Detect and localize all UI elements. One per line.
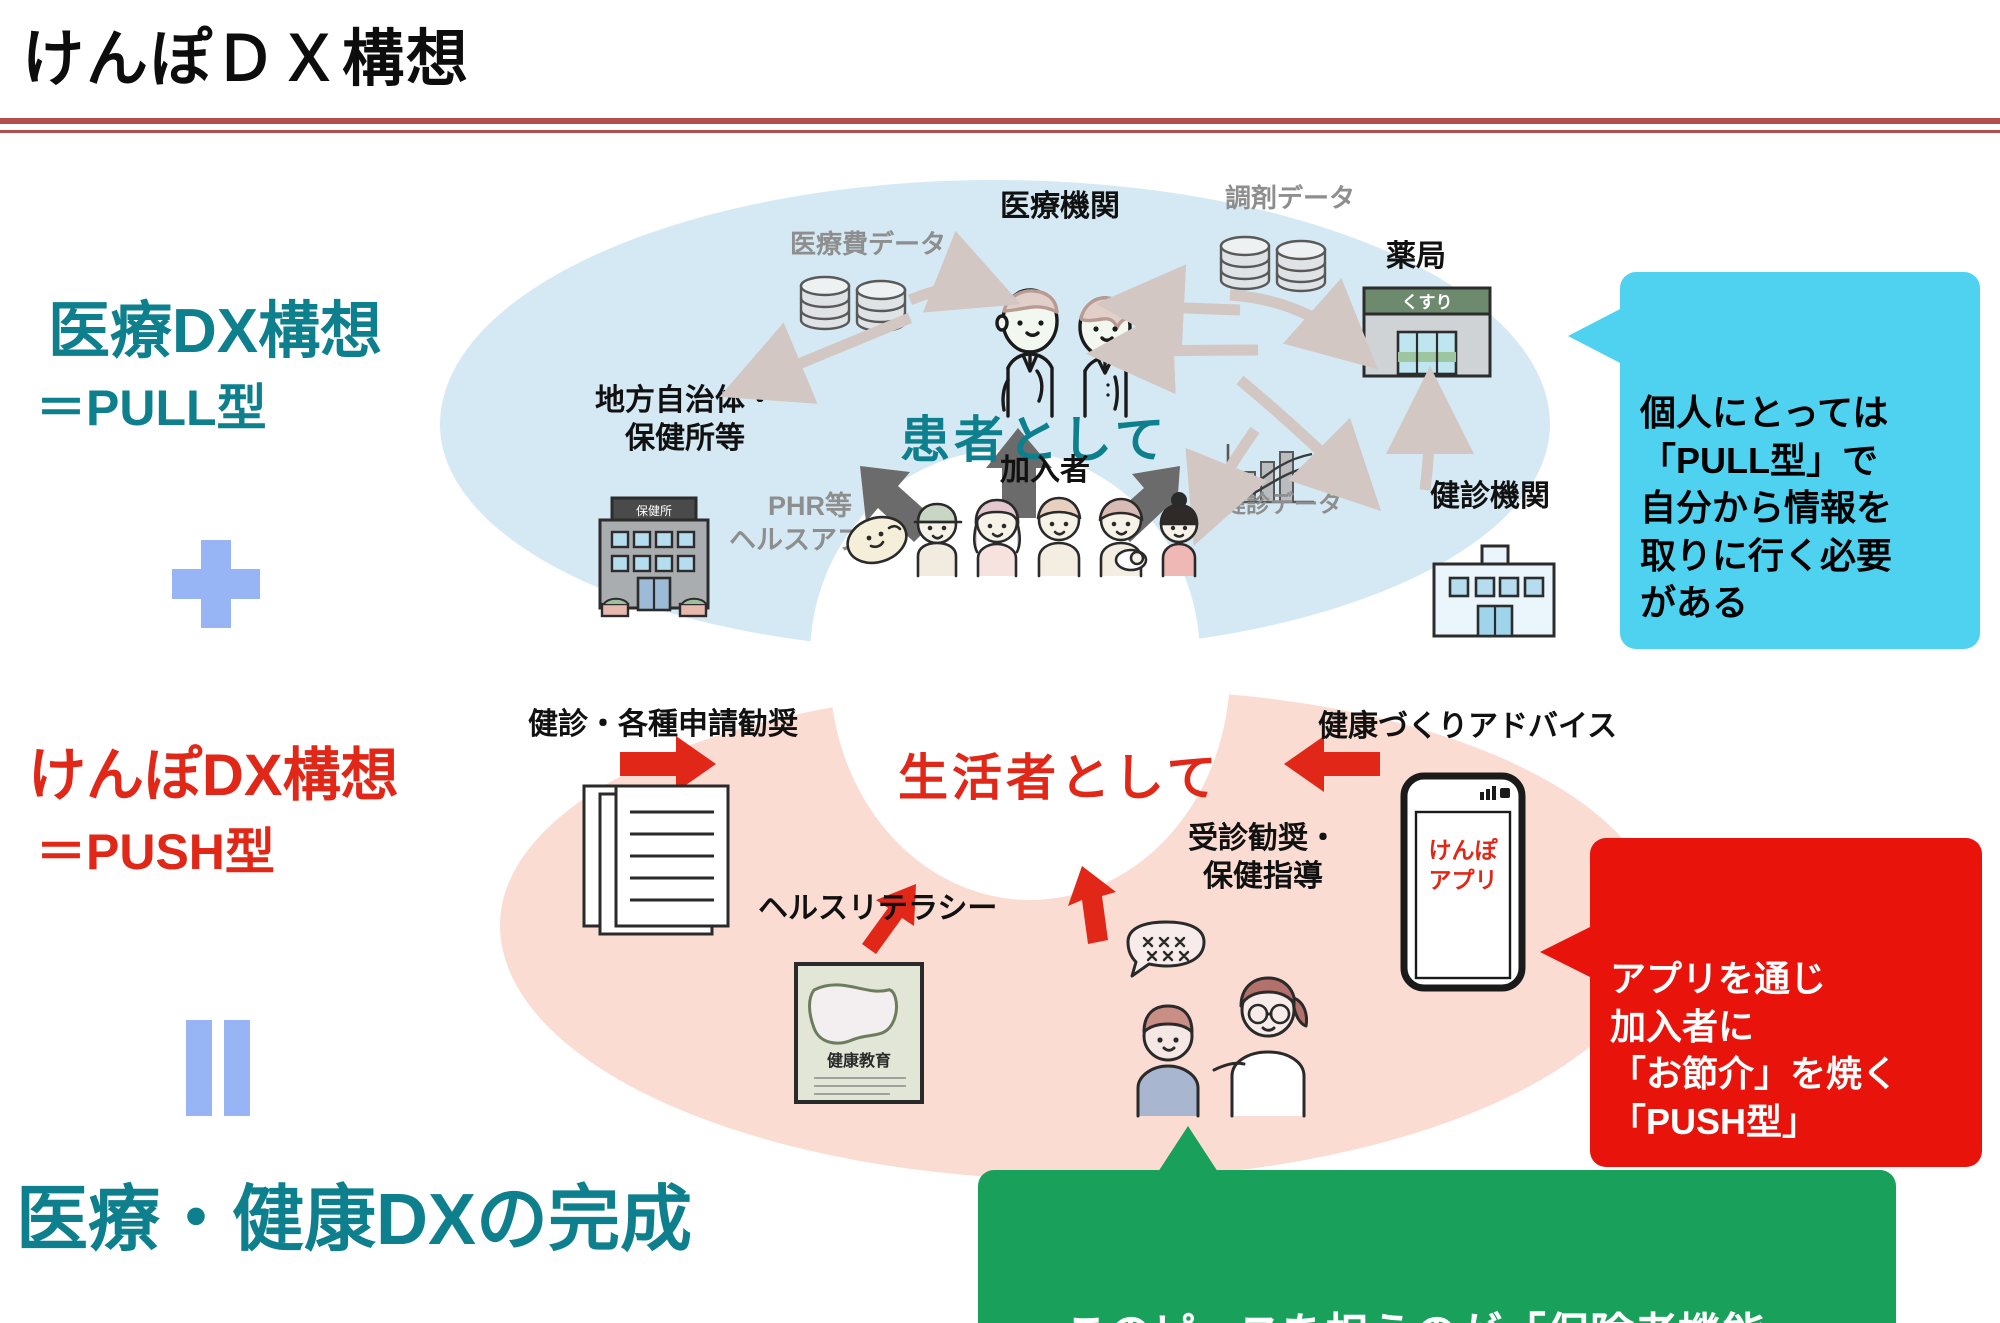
- kenpo-app-phone-icon: けんぽ アプリ: [1398, 772, 1528, 992]
- callout-insurer-text: このピースを担うのが「保険者機能」: [1064, 1310, 1810, 1323]
- callout-push-text: アプリを通じ 加入者に 「お節介」を焼く 「PUSH型」: [1610, 958, 1898, 1142]
- header-rule-thick: [0, 118, 2000, 124]
- header-rule-thin: [0, 130, 2000, 133]
- callout-pull-type: 個人にとっては 「PULL型」で 自分から情報を 取りに行く必要 がある: [1620, 272, 1980, 649]
- callout-insurer-function: このピースを担うのが「保険者機能」: [978, 1170, 1896, 1323]
- app-name-line1: けんぽ: [1429, 837, 1499, 863]
- slide-canvas: けんぽＤＸ構想 医療DX構想 ＝PULL型 けんぽDX構想 ＝PUSH型 医療・…: [0, 0, 2000, 1323]
- health-guidance-people-icon: [1110, 918, 1330, 1118]
- callout-push-tail: [1540, 926, 1592, 978]
- label-pull-concept: 医療DX構想: [48, 280, 382, 370]
- label-health-literacy: ヘルスリテラシー: [758, 890, 997, 928]
- label-pull-type: ＝PULL型: [36, 368, 267, 440]
- members-people-icon: [845, 488, 1205, 578]
- documents-icon: [578, 780, 758, 940]
- label-push-type: ＝PUSH型: [36, 812, 275, 884]
- callout-insurer-tail: [1158, 1126, 1218, 1172]
- book-title-text: 健康教育: [827, 1051, 891, 1070]
- label-checkup-application: 健診・各種申請勧奨: [528, 706, 798, 744]
- label-health-advice: 健康づくりアドバイス: [1318, 708, 1617, 746]
- page-title: けんぽＤＸ構想: [22, 8, 470, 98]
- plus-operator-icon: [172, 540, 260, 628]
- app-name-line2: アプリ: [1429, 867, 1498, 893]
- callout-push-type: アプリを通じ 加入者に 「お節介」を焼く 「PUSH型」: [1590, 838, 1982, 1167]
- health-education-book-icon: 健康教育: [790, 958, 930, 1108]
- callout-pull-text: 個人にとっては 「PULL型」で 自分から情報を 取りに行く必要 がある: [1640, 392, 1892, 623]
- label-visit-guidance: 受診勧奨・ 保健指導: [1148, 820, 1378, 895]
- equals-operator-icon: [182, 1020, 254, 1116]
- label-member: 加入者: [1000, 452, 1090, 490]
- callout-pull-tail: [1568, 308, 1622, 364]
- label-conclusion: 医療・健康DXの完成: [16, 1160, 692, 1265]
- label-push-concept: けんぽDX構想: [28, 728, 399, 812]
